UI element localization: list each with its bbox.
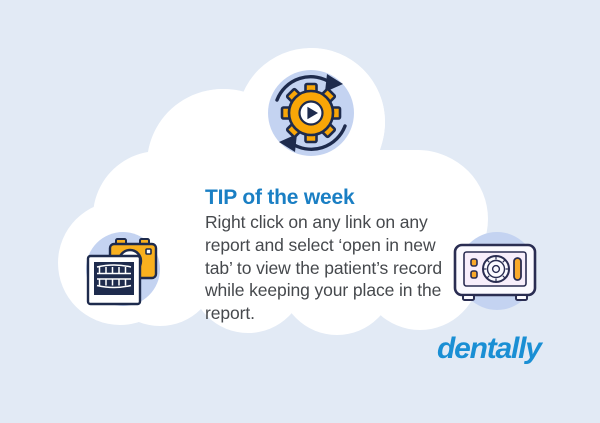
safe-light-top — [471, 259, 477, 266]
dentally-logo: dentally — [437, 334, 541, 364]
gear-glyph — [282, 84, 340, 142]
tip-card: TIP of the week Right click on any link … — [0, 0, 600, 423]
safe-light-bottom — [471, 271, 477, 278]
safe-handle-icon — [514, 258, 521, 280]
tip-body: Right click on any link on any report an… — [205, 211, 455, 325]
gear-play-refresh-icon — [258, 60, 364, 166]
tip-text-block: TIP of the week Right click on any link … — [205, 186, 455, 325]
safe-foot-left — [463, 295, 474, 300]
safe-vault-glyph — [444, 228, 548, 316]
safe-vault-icon — [444, 228, 548, 316]
tip-title: TIP of the week — [205, 186, 455, 209]
safe-dial-icon — [483, 256, 509, 282]
dental-xray-camera-icon — [72, 226, 172, 312]
safe-foot-right — [516, 295, 527, 300]
dental-xray-camera-glyph — [72, 226, 172, 312]
xray-photo-icon — [88, 256, 140, 304]
gear-play-refresh-glyph — [258, 60, 364, 166]
